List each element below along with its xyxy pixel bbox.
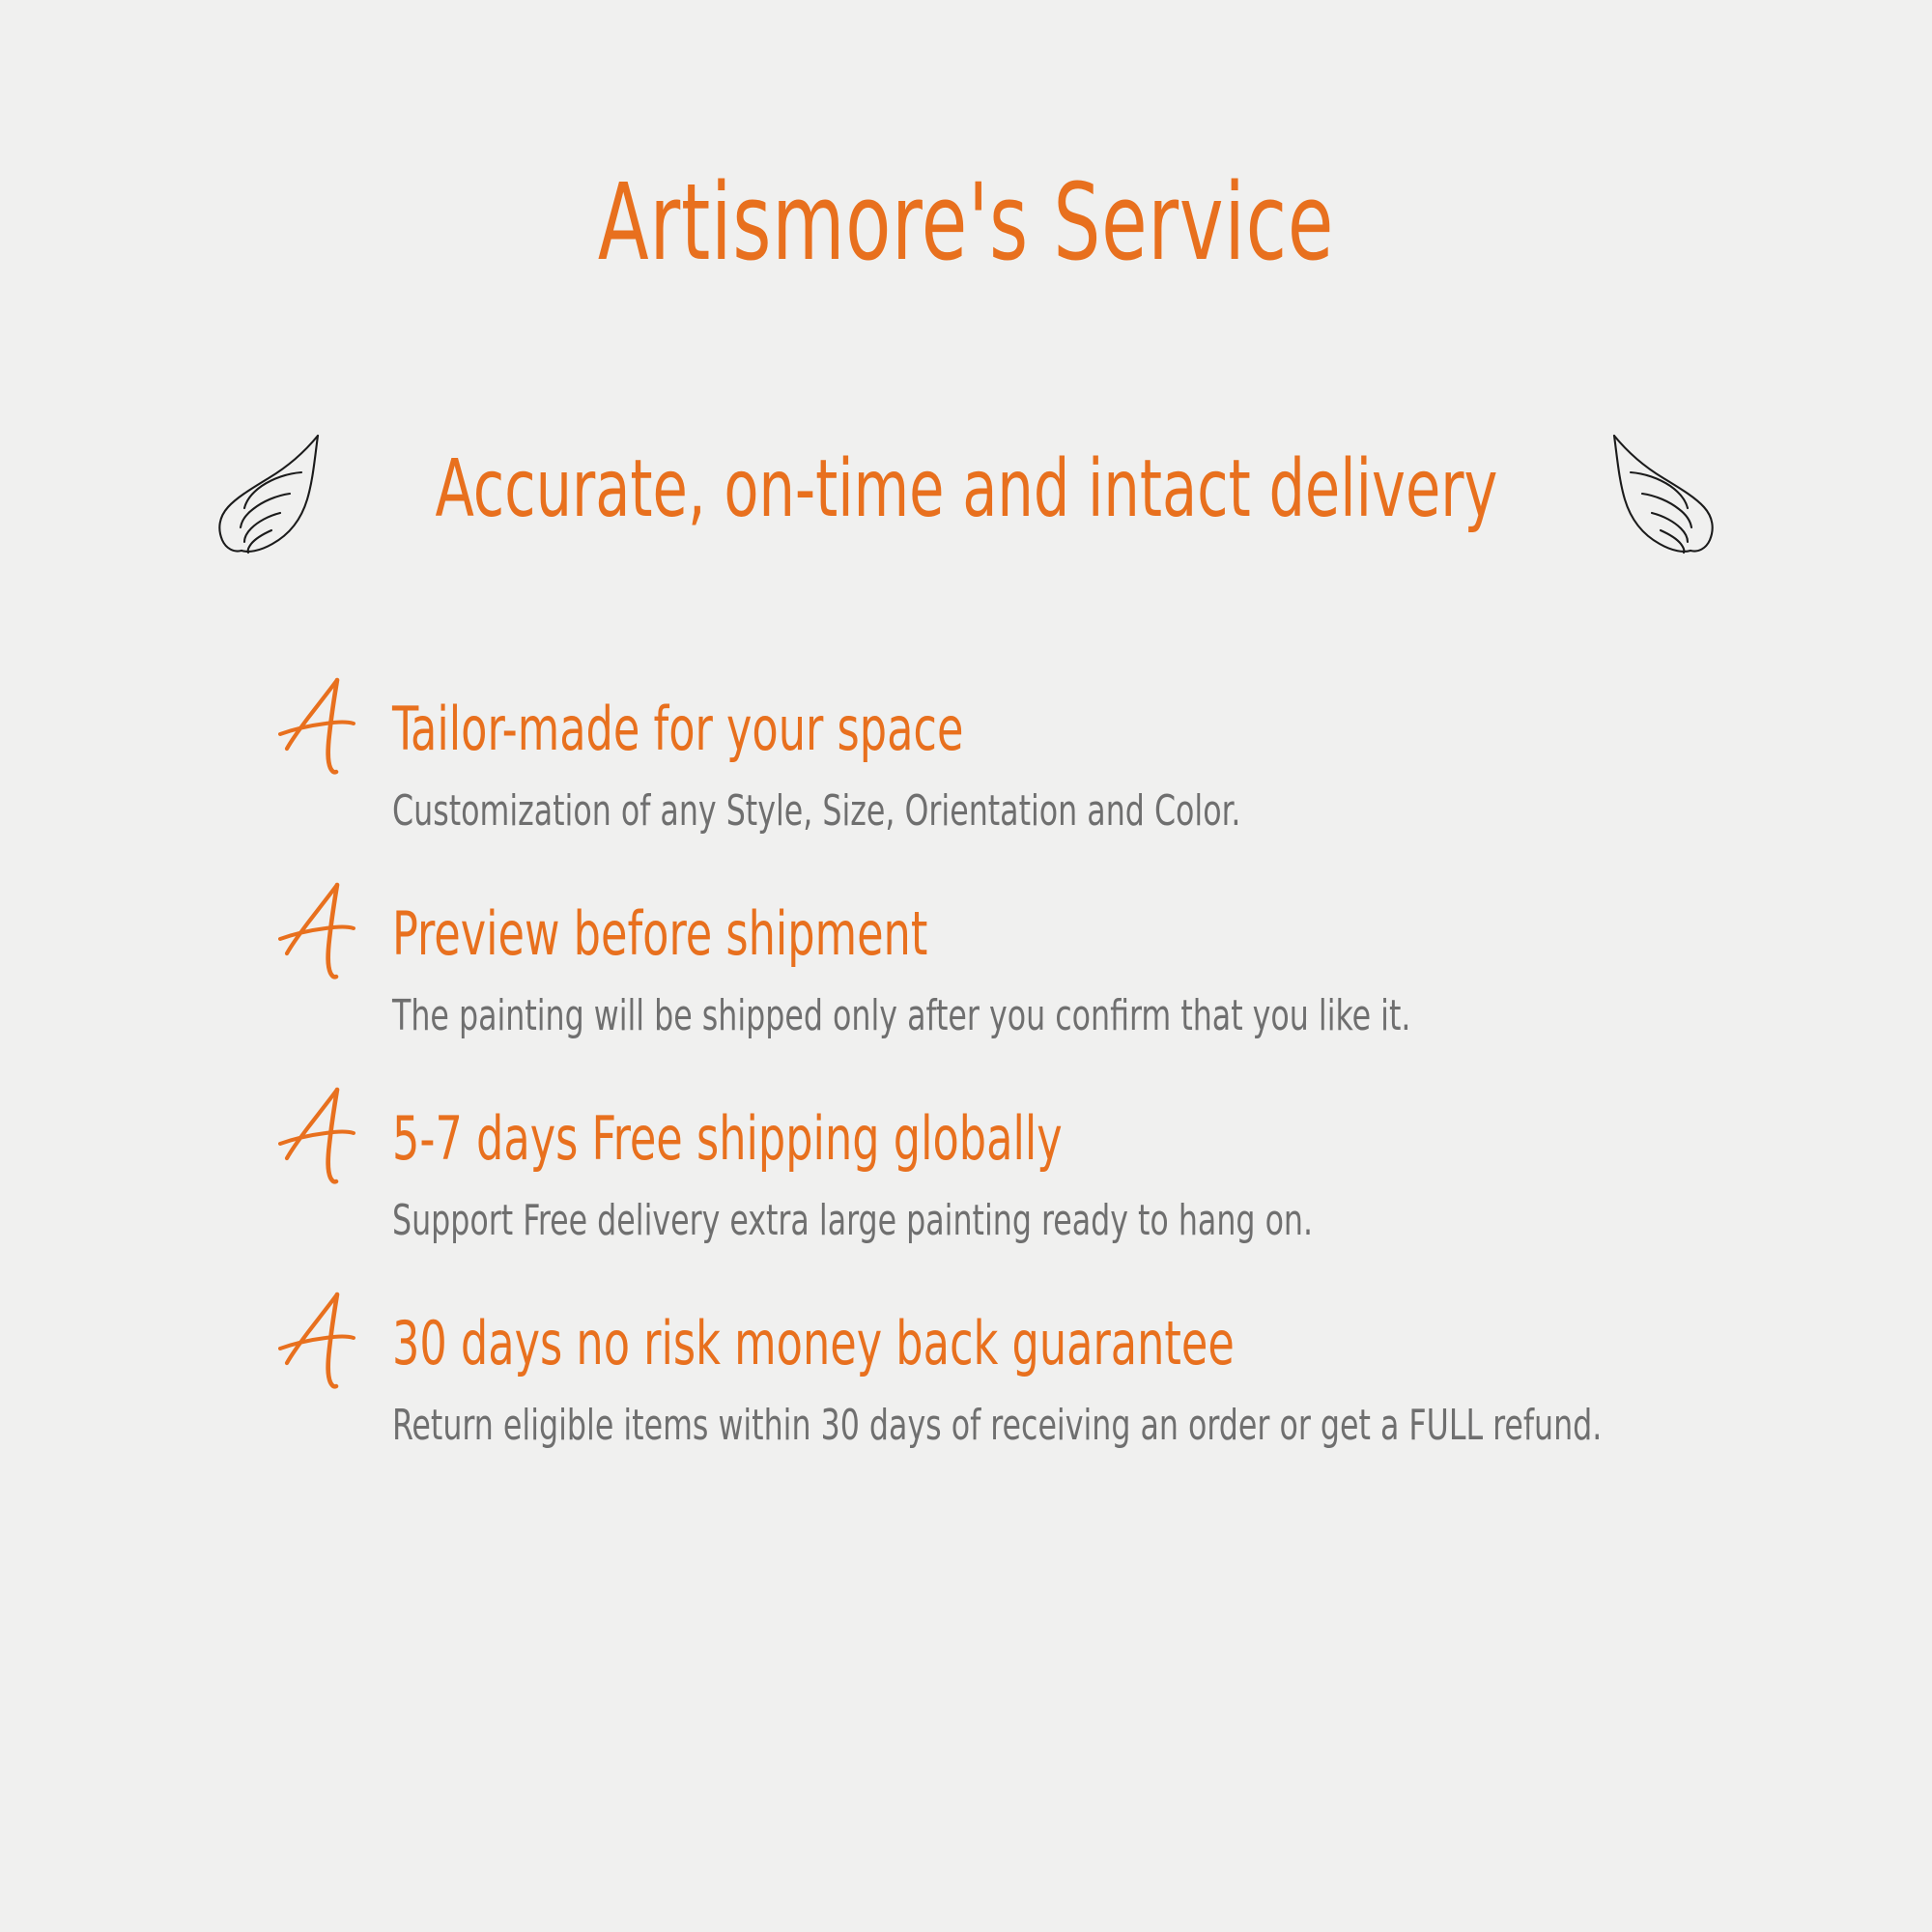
service-item-description: Return eligible items within 30 days of … (392, 1402, 1569, 1451)
script-letter-a-icon (278, 1084, 361, 1184)
service-item-title: 30 days no risk money back guarantee (392, 1310, 1569, 1377)
script-letter-a-icon (278, 674, 361, 775)
service-item-title: 5-7 days Free shipping globally (392, 1105, 1569, 1172)
service-item: 30 days no risk money back guarantee Ret… (278, 1310, 1862, 1455)
script-letter-a-icon (278, 879, 361, 980)
page-title: Artismore's Service (213, 169, 1719, 275)
service-item-title: Preview before shipment (392, 900, 1569, 967)
service-item: Preview before shipment The painting wil… (278, 900, 1862, 1045)
angel-wing-icon (205, 430, 326, 555)
service-item-body: Tailor-made for your space Customization… (392, 696, 1862, 837)
service-list: Tailor-made for your space Customization… (278, 696, 1862, 1455)
service-item: 5-7 days Free shipping globally Support … (278, 1105, 1862, 1250)
service-item-description: Customization of any Style, Size, Orient… (392, 787, 1569, 837)
page-subtitle: Accurate, on-time and intact delivery (435, 450, 1497, 535)
service-item: Tailor-made for your space Customization… (278, 696, 1862, 840)
service-item-description: The painting will be shipped only after … (392, 992, 1569, 1041)
subtitle-band: Accurate, on-time and intact delivery (0, 425, 1932, 560)
service-item-body: 5-7 days Free shipping globally Support … (392, 1105, 1862, 1246)
service-item-body: 30 days no risk money back guarantee Ret… (392, 1310, 1862, 1451)
service-item-description: Support Free delivery extra large painti… (392, 1197, 1569, 1246)
angel-wing-icon (1606, 430, 1727, 555)
service-info-page: Artismore's Service Accurate, on-time an… (0, 0, 1932, 1932)
service-item-title: Tailor-made for your space (392, 696, 1569, 762)
service-item-body: Preview before shipment The painting wil… (392, 900, 1862, 1041)
script-letter-a-icon (278, 1289, 361, 1389)
